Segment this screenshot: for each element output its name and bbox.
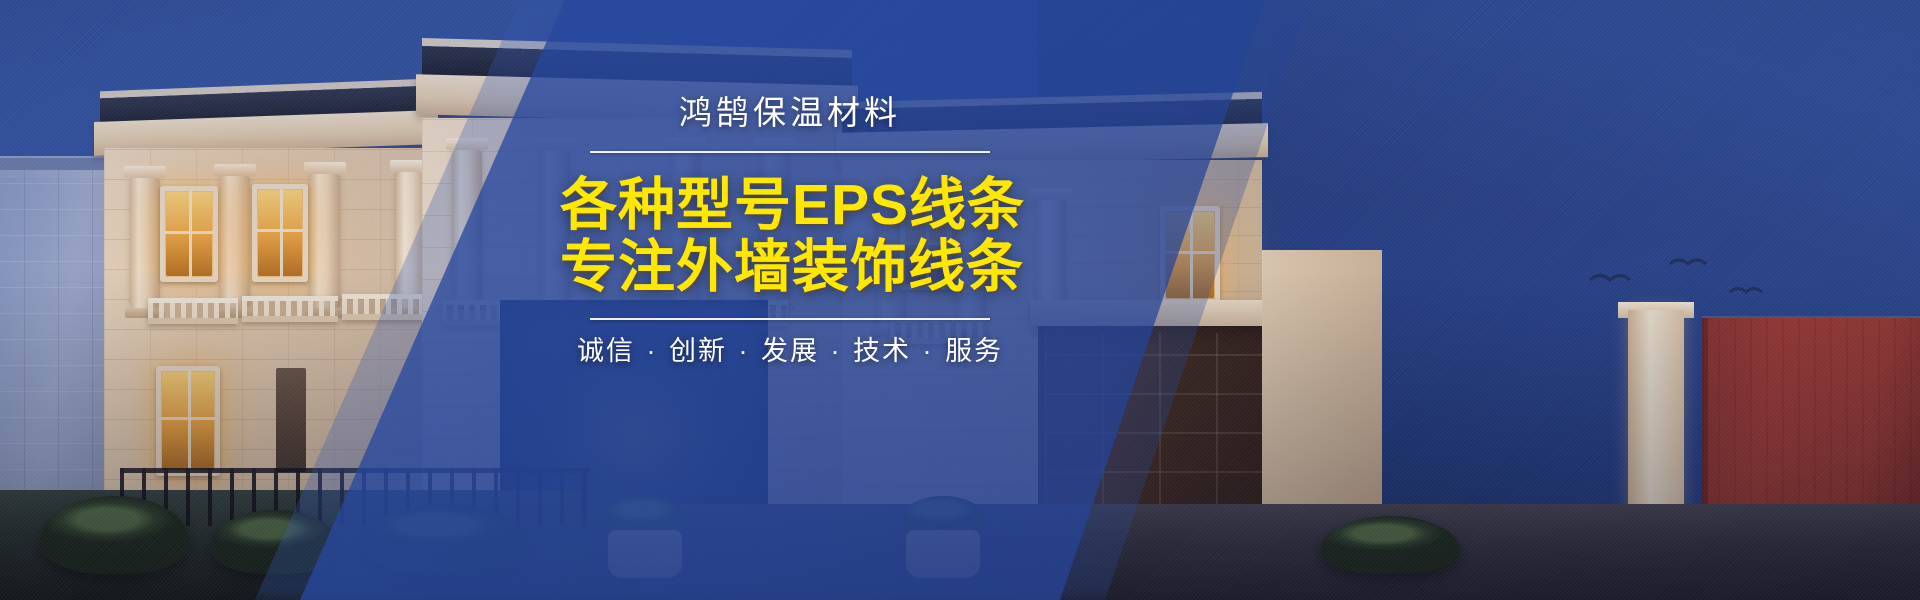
brand-name: 鸿鹄保温材料 <box>560 96 1020 129</box>
slogan-separator: · <box>829 336 844 366</box>
slogan-item: 诚信 <box>577 336 635 366</box>
headline-line-1: 各种型号EPS线条 <box>560 175 1020 237</box>
divider-bottom <box>590 318 990 320</box>
slogan-separator: · <box>644 336 659 366</box>
slogan-item: 创新 <box>669 336 727 366</box>
divider-top <box>590 151 990 153</box>
slogan-item: 发展 <box>761 336 819 366</box>
slogan-item: 服务 <box>945 336 1003 366</box>
headline: 各种型号EPS线条 专注外墙装饰线条 <box>560 175 1020 298</box>
slogan: 诚信 · 创新 · 发展 · 技术 · 服务 <box>560 338 1020 365</box>
hero-banner: 鸿鹄保温材料 各种型号EPS线条 专注外墙装饰线条 诚信 · 创新 · 发展 ·… <box>0 0 1920 600</box>
banner-copy: 鸿鹄保温材料 各种型号EPS线条 专注外墙装饰线条 诚信 · 创新 · 发展 ·… <box>560 96 1020 365</box>
headline-line-2: 专注外墙装饰线条 <box>560 237 1020 299</box>
slogan-item: 技术 <box>853 336 911 366</box>
slogan-separator: · <box>921 336 936 366</box>
slogan-separator: · <box>736 336 751 366</box>
